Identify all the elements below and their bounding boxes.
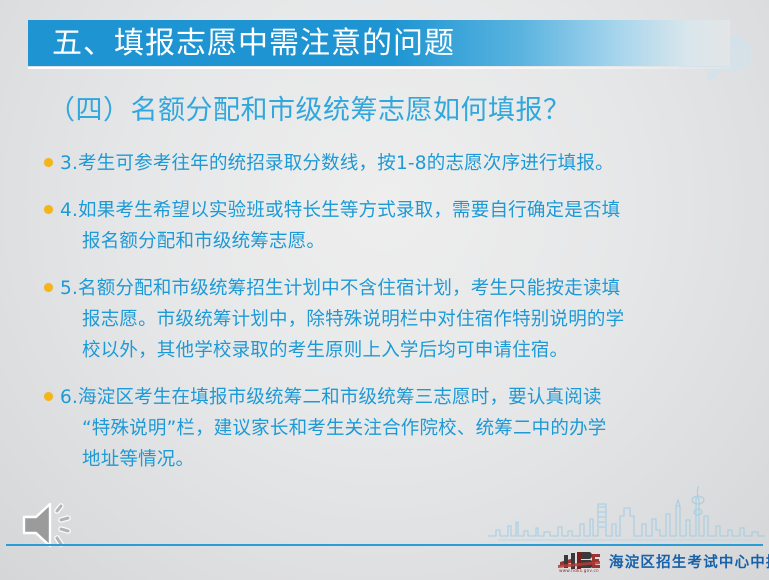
list-item-text: 5.名额分配和市级统筹招生计划中不含住宿计划，考生只能按走读填 报志愿。市级统筹… [60,273,730,366]
hdks-logo-icon: www.hdks.gov.cn [556,549,602,573]
list-item-text: 3.考生可参考往年的统招录取分数线，按1-8的志愿次序进行填报。 [60,148,730,179]
logo-url-text: www.hdks.gov.cn [556,568,602,573]
bullet-line: 校以外，其他学校录取的考生原则上入学后均可申请住宿。 [60,335,730,366]
organization-name: 海淀区招生考试中心中招办 [609,551,769,572]
title-underline [28,67,730,69]
bullet-line: “特殊说明”栏，建议家长和考生关注合作院校、统筹二中的办学 [60,413,730,444]
bullet-dot-icon [44,205,53,214]
bullet-list: 3.考生可参考往年的统招录取分数线，按1-8的志愿次序进行填报。 4.如果考生希… [40,148,730,491]
bullet-line: 4.如果考生希望以实验班或特长生等方式录取，需要自行确定是否填 [60,200,620,221]
footer-brand: www.hdks.gov.cn 海淀区招生考试中心中招办 [556,549,769,573]
speaker-icon[interactable] [16,495,82,555]
footer-divider [6,544,763,546]
bullet-dot-icon [44,392,53,401]
list-item-text: 6.海淀区考生在填报市级统筹二和市级统筹三志愿时，要认真阅读 “特殊说明”栏，建… [60,382,730,475]
section-subtitle: （四）名额分配和市级统筹志愿如何填报？ [48,92,571,130]
bullet-line: 6.海淀区考生在填报市级统筹二和市级统筹三志愿时，要认真阅读 [60,387,602,408]
city-skyline-decoration [480,486,769,544]
page-title: 五、填报志愿中需注意的问题 [52,24,455,64]
list-item: 3.考生可参考往年的统招录取分数线，按1-8的志愿次序进行填报。 [40,148,730,179]
bullet-line: 报志愿。市级统筹计划中，除特殊说明栏中对住宿作特别说明的学 [60,304,730,335]
list-item-text: 4.如果考生希望以实验班或特长生等方式录取，需要自行确定是否填 报名额分配和市级… [60,195,730,257]
bullet-line: 地址等情况。 [60,444,730,475]
bullet-line: 5.名额分配和市级统筹招生计划中不含住宿计划，考生只能按走读填 [60,278,620,299]
bullet-line: 报名额分配和市级统筹志愿。 [60,226,730,257]
list-item: 4.如果考生希望以实验班或特长生等方式录取，需要自行确定是否填 报名额分配和市级… [40,195,730,257]
list-item: 6.海淀区考生在填报市级统筹二和市级统筹三志愿时，要认真阅读 “特殊说明”栏，建… [40,382,730,475]
bullet-dot-icon [44,283,53,292]
presentation-slide: 五、填报志愿中需注意的问题 （四）名额分配和市级统筹志愿如何填报？ 3.考生可参… [0,0,769,580]
bullet-dot-icon [44,158,53,167]
bullet-line: 3.考生可参考往年的统招录取分数线，按1-8的志愿次序进行填报。 [60,153,614,174]
list-item: 5.名额分配和市级统筹招生计划中不含住宿计划，考生只能按走读填 报志愿。市级统筹… [40,273,730,366]
